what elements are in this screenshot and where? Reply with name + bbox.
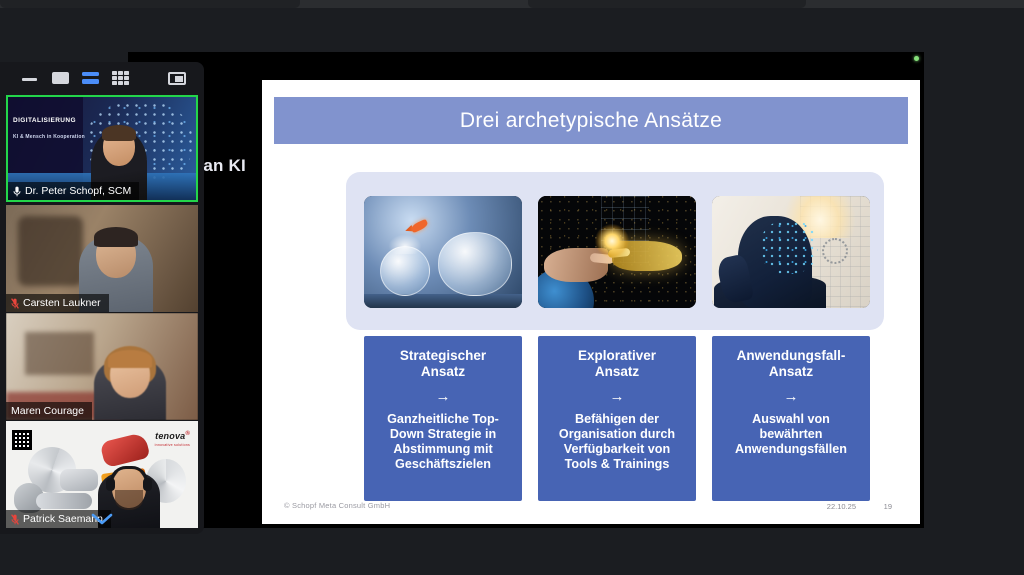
approach-card-title-line1: Strategischer xyxy=(400,348,486,363)
gallery-view-icon[interactable] xyxy=(112,71,129,85)
participant-name-tag: Dr. Peter Schopf, SCM xyxy=(8,182,139,200)
approach-cards: Strategischer Ansatz → Ganzheitliche Top… xyxy=(346,336,884,501)
screen-root: man KI Drei archetypische Ansätze xyxy=(0,0,1024,575)
approach-card-title: Strategischer Ansatz xyxy=(373,348,513,380)
approach-card-title-line2: Ansatz xyxy=(769,364,813,379)
goldfish-jumping-between-bowls-image xyxy=(364,196,522,308)
participant-name: Maren Courage xyxy=(11,405,84,417)
arrow-right-icon: → xyxy=(373,389,513,404)
presentation-slide: Drei archetypische Ansätze xyxy=(262,80,920,524)
arrow-right-icon: → xyxy=(547,389,687,404)
avatar xyxy=(94,358,166,420)
video-filmstrip-panel: DIGITALISIERUNG KI & Mensch in Kooperati… xyxy=(0,62,204,534)
approach-card-title: Explorativer Ansatz xyxy=(547,348,687,380)
approach-card-strategic: Strategischer Ansatz → Ganzheitliche Top… xyxy=(364,336,522,501)
approach-card-exploratory: Explorativer Ansatz → Befähigen der Orga… xyxy=(538,336,696,501)
picture-in-picture-icon[interactable] xyxy=(168,72,186,85)
slide-page-number: 19 xyxy=(884,502,892,511)
desktop-tab-2[interactable] xyxy=(528,0,806,8)
slide-title-bar: Drei archetypische Ansätze xyxy=(274,97,908,144)
filmstrip-view-icon[interactable] xyxy=(82,72,99,84)
slide-date: 22.10.25 xyxy=(827,502,856,511)
qr-code-icon xyxy=(12,430,32,450)
desktop-top-bar xyxy=(0,0,1024,8)
brand-logo: tenova® xyxy=(155,431,190,441)
approach-card-body: Auswahl von bewährten Anwendungsfällen xyxy=(721,412,861,457)
approach-card-title-line1: Anwendungsfall- xyxy=(737,348,846,363)
approach-card-title-line1: Explorativer xyxy=(578,348,656,363)
shared-screen-stage[interactable]: man KI Drei archetypische Ansätze xyxy=(128,52,924,528)
microphone-on-icon xyxy=(13,186,21,197)
approach-card-title-line2: Ansatz xyxy=(595,364,639,379)
chevron-down-icon[interactable] xyxy=(88,512,116,526)
brand-logo-subtitle: innovative solutions xyxy=(155,443,190,447)
participant-name: Dr. Peter Schopf, SCM xyxy=(25,185,131,197)
person-with-digital-brain-image xyxy=(712,196,870,308)
participant-tile-active-speaker[interactable]: DIGITALISIERUNG KI & Mensch in Kooperati… xyxy=(6,95,198,202)
human-and-digital-hand-touching-image xyxy=(538,196,696,308)
approach-card-title-line2: Ansatz xyxy=(421,364,465,379)
slide-image-panel xyxy=(346,172,884,330)
video-panel-toolbar xyxy=(0,62,204,94)
virtual-background-title: DIGITALISIERUNG xyxy=(13,117,76,124)
microphone-muted-icon xyxy=(11,298,19,309)
participant-name: Carsten Laukner xyxy=(23,297,101,309)
slide-copyright: © Schopf Meta Consult GmbH xyxy=(284,501,390,510)
approach-card-body: Befähigen der Organisation durch Verfügb… xyxy=(547,412,687,472)
minimize-icon[interactable] xyxy=(22,78,37,81)
participant-tile-3[interactable]: Maren Courage xyxy=(6,313,198,420)
approach-card-title: Anwendungsfall- Ansatz xyxy=(721,348,861,380)
approach-card-body: Ganzheitliche Top-Down Strategie in Abst… xyxy=(373,412,513,472)
virtual-background-subtitle: KI & Mensch in Kooperation xyxy=(13,134,85,140)
participant-name-tag: Maren Courage xyxy=(6,402,92,420)
speaker-view-icon[interactable] xyxy=(52,72,69,84)
microphone-muted-icon xyxy=(11,514,19,525)
recording-indicator-dot xyxy=(914,56,919,61)
participant-name-tag: Carsten Laukner xyxy=(6,294,109,312)
desktop-tab-1[interactable] xyxy=(0,0,300,8)
approach-card-usecase: Anwendungsfall- Ansatz → Auswahl von bew… xyxy=(712,336,870,501)
arrow-right-icon: → xyxy=(721,389,861,404)
slide-title: Drei archetypische Ansätze xyxy=(460,109,722,133)
participant-tile-2[interactable]: Carsten Laukner xyxy=(6,205,198,312)
